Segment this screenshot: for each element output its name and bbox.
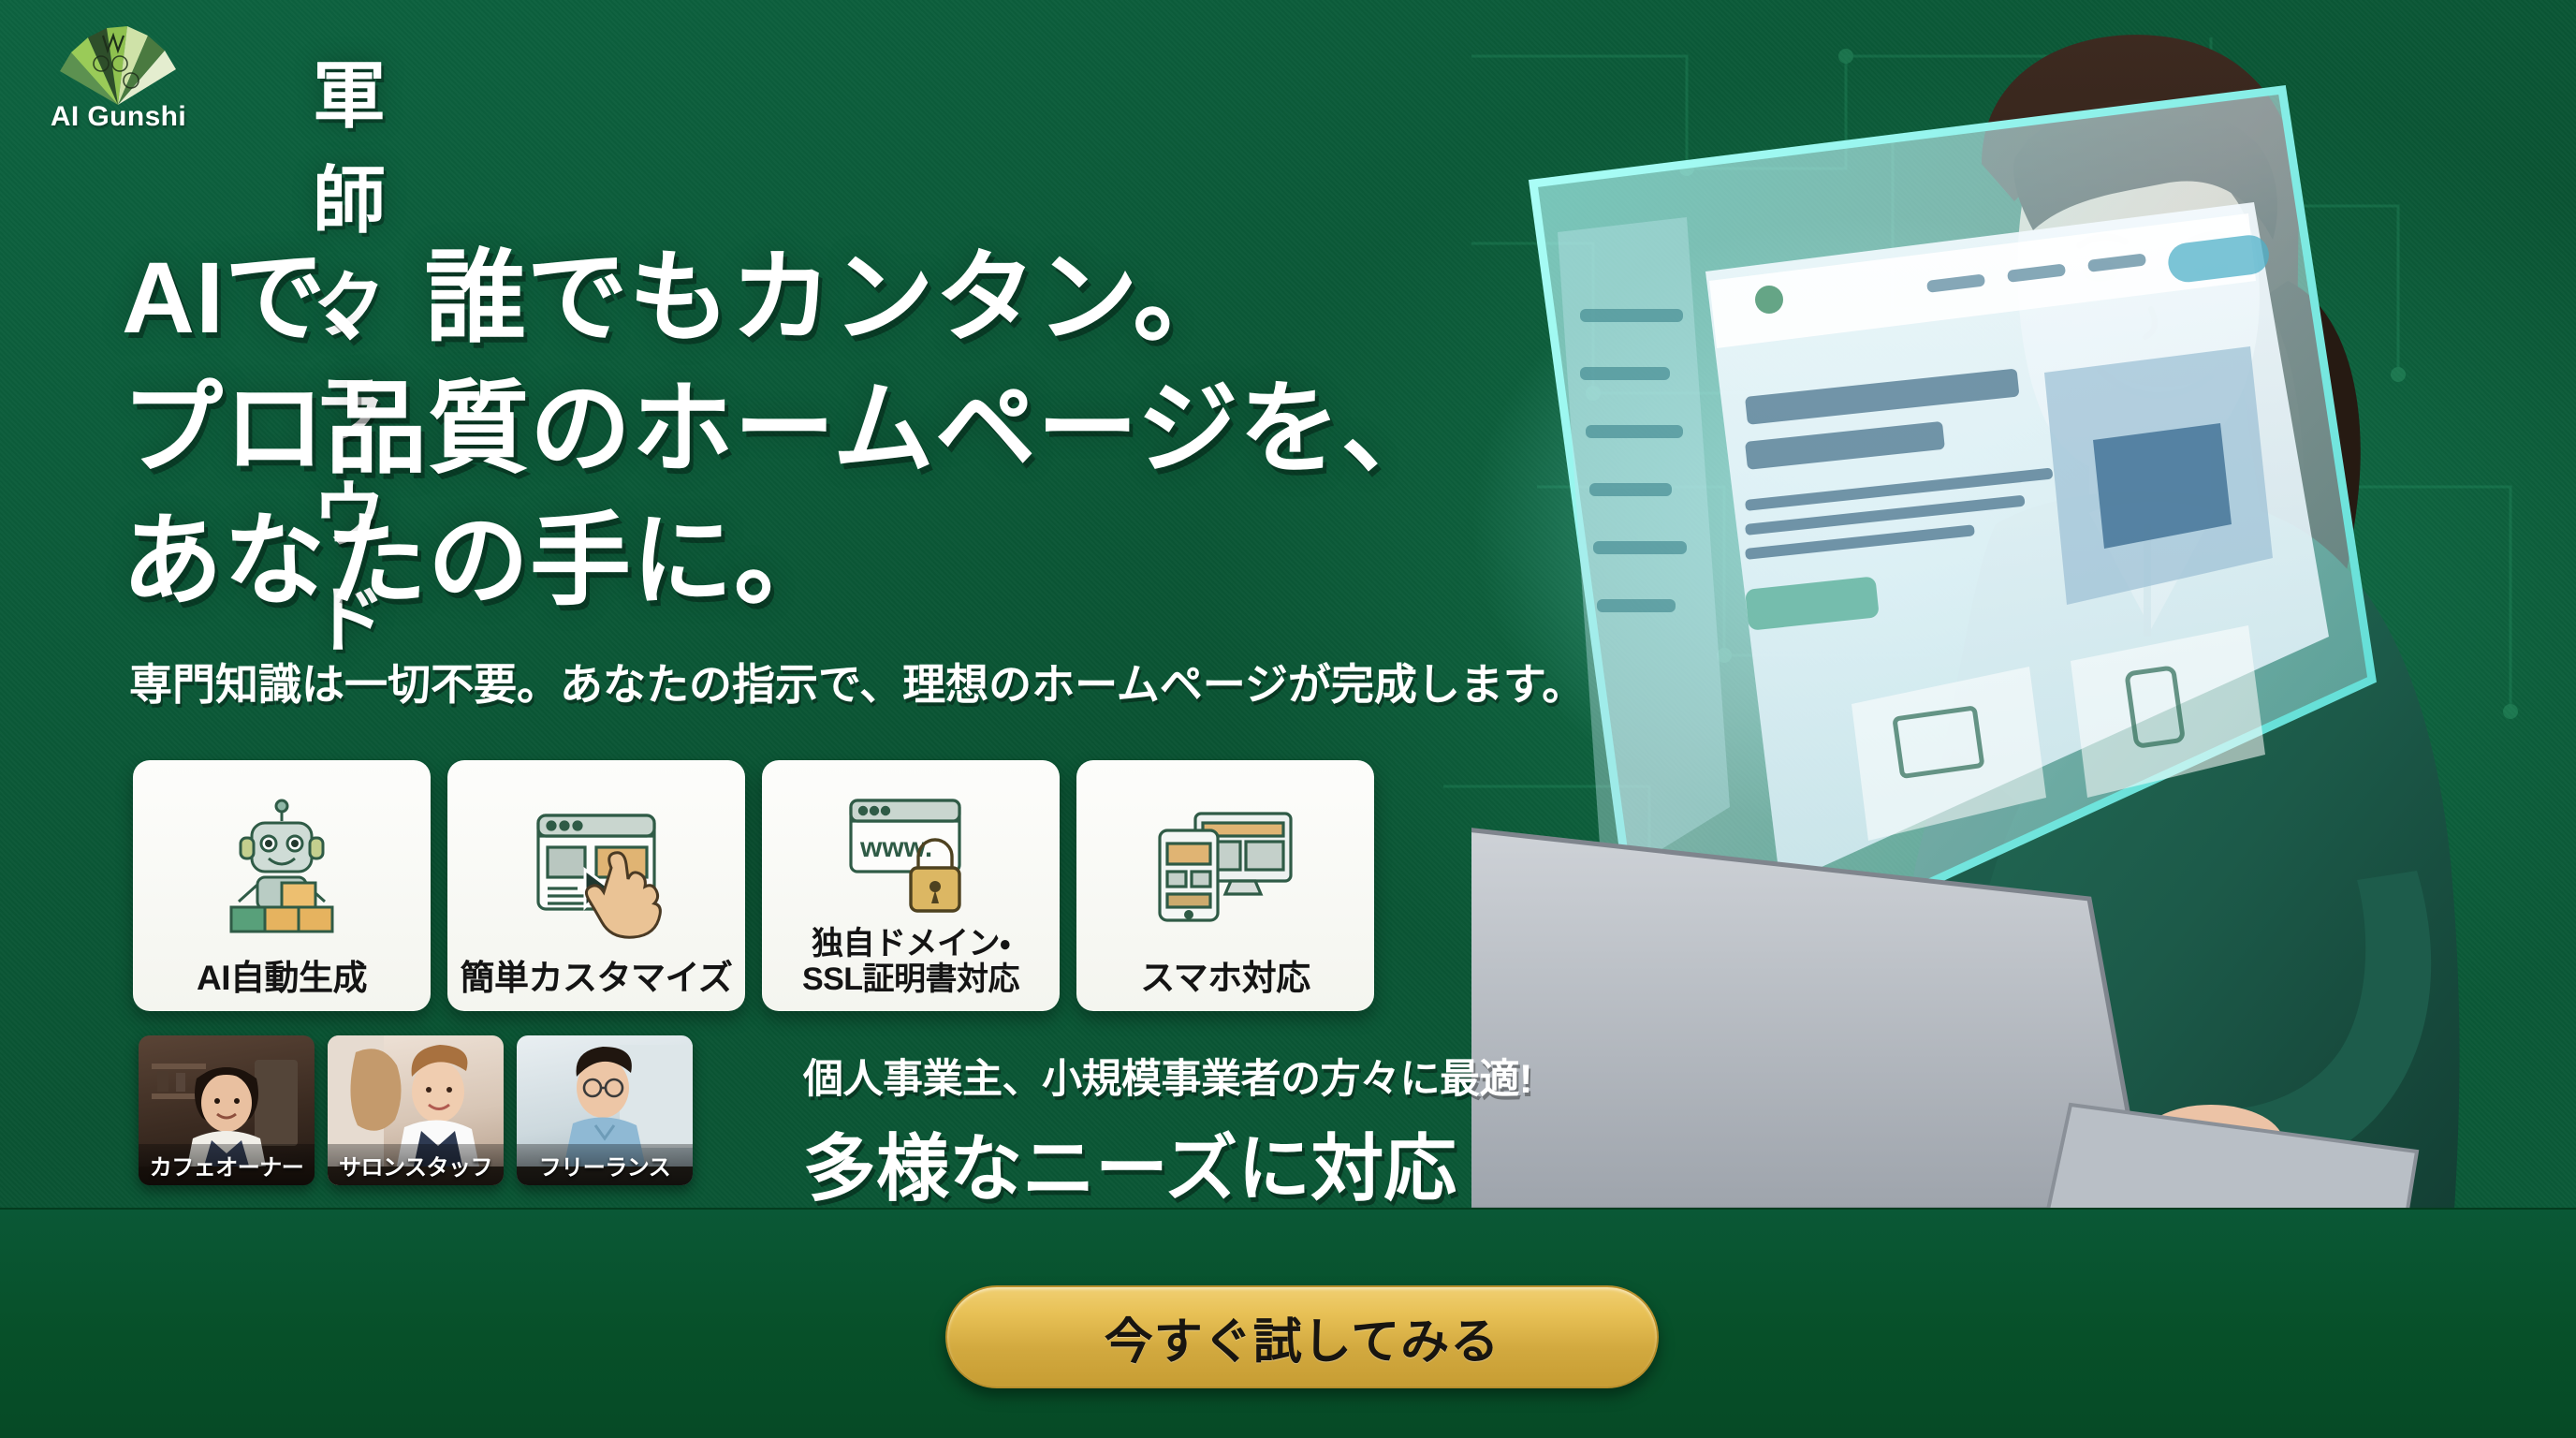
cta-button-label: 今すぐ試してみる <box>1105 1302 1500 1372</box>
www-lock-icon: www. <box>771 779 1050 926</box>
hero-banner: AI Gunshi 軍師クラウド AIで、誰でもカンタン。 プロ品質のホームペー… <box>0 0 2576 1438</box>
feature-card-label: 簡単カスタマイズ <box>461 959 733 1000</box>
persona-card-cafe-owner[interactable]: カフェオーナー <box>139 1035 315 1185</box>
pitch-headline: 多様なニーズに対応 <box>803 1110 1833 1215</box>
brand-logo-block: AI Gunshi 軍師クラウド <box>32 11 434 135</box>
cta-button[interactable]: 今すぐ試してみる <box>945 1285 1659 1388</box>
headline: AIで、誰でもカンタン。 プロ品質のホームページを、 あなたの手に。 <box>122 232 1619 626</box>
persona-caption: フリーランス <box>517 1144 693 1185</box>
feature-card-mobile-ready[interactable]: スマホ対応 <box>1076 760 1374 1011</box>
hero-image-woman-laptop <box>1471 0 2576 1210</box>
folding-fan-icon <box>43 15 193 107</box>
persona-card-freelancer[interactable]: フリーランス <box>517 1035 693 1185</box>
feature-card-label: スマホ対応 <box>1140 959 1310 1000</box>
pitch-text-block: 個人事業主、小規模事業者の方々に最適! 多様なニーズに対応 <box>803 1047 1833 1215</box>
persona-thumbnail-list: カフェオーナー サロンスタッフ <box>139 1035 693 1185</box>
subheadline: 専門知識は一切不要。あなたの指示で、理想のホームページが完成します。 <box>129 651 1720 712</box>
feature-card-label: AI自動生成 <box>197 959 367 1000</box>
browser-cursor-hand-icon <box>457 779 736 959</box>
feature-card-label: 独自ドメイン・ SSL証明書対応 <box>802 926 1019 1001</box>
feature-card-list: AI自動生成 簡単カスタマイズ <box>133 760 1374 1011</box>
feature-card-ai-generate[interactable]: AI自動生成 <box>133 760 431 1011</box>
headline-line-3: あなたの手に。 <box>122 495 1619 626</box>
persona-caption: サロンスタッフ <box>328 1144 504 1185</box>
feature-card-domain-ssl[interactable]: www. 独自ドメイン・ SSL証明書対応 <box>762 760 1060 1011</box>
robot-blocks-icon <box>142 779 421 959</box>
feature-card-easy-customize[interactable]: 簡単カスタマイズ <box>447 760 745 1011</box>
headline-line-2: プロ品質のホームページを、 <box>122 363 1619 494</box>
pitch-top-line: 個人事業主、小規模事業者の方々に最適! <box>803 1047 1833 1105</box>
headline-line-1: AIで、誰でもカンタン。 <box>122 232 1619 363</box>
devices-responsive-icon <box>1086 779 1365 959</box>
persona-card-salon-staff[interactable]: サロンスタッフ <box>328 1035 504 1185</box>
persona-caption: カフェオーナー <box>139 1144 315 1185</box>
logo-subtitle: AI Gunshi <box>32 101 205 133</box>
